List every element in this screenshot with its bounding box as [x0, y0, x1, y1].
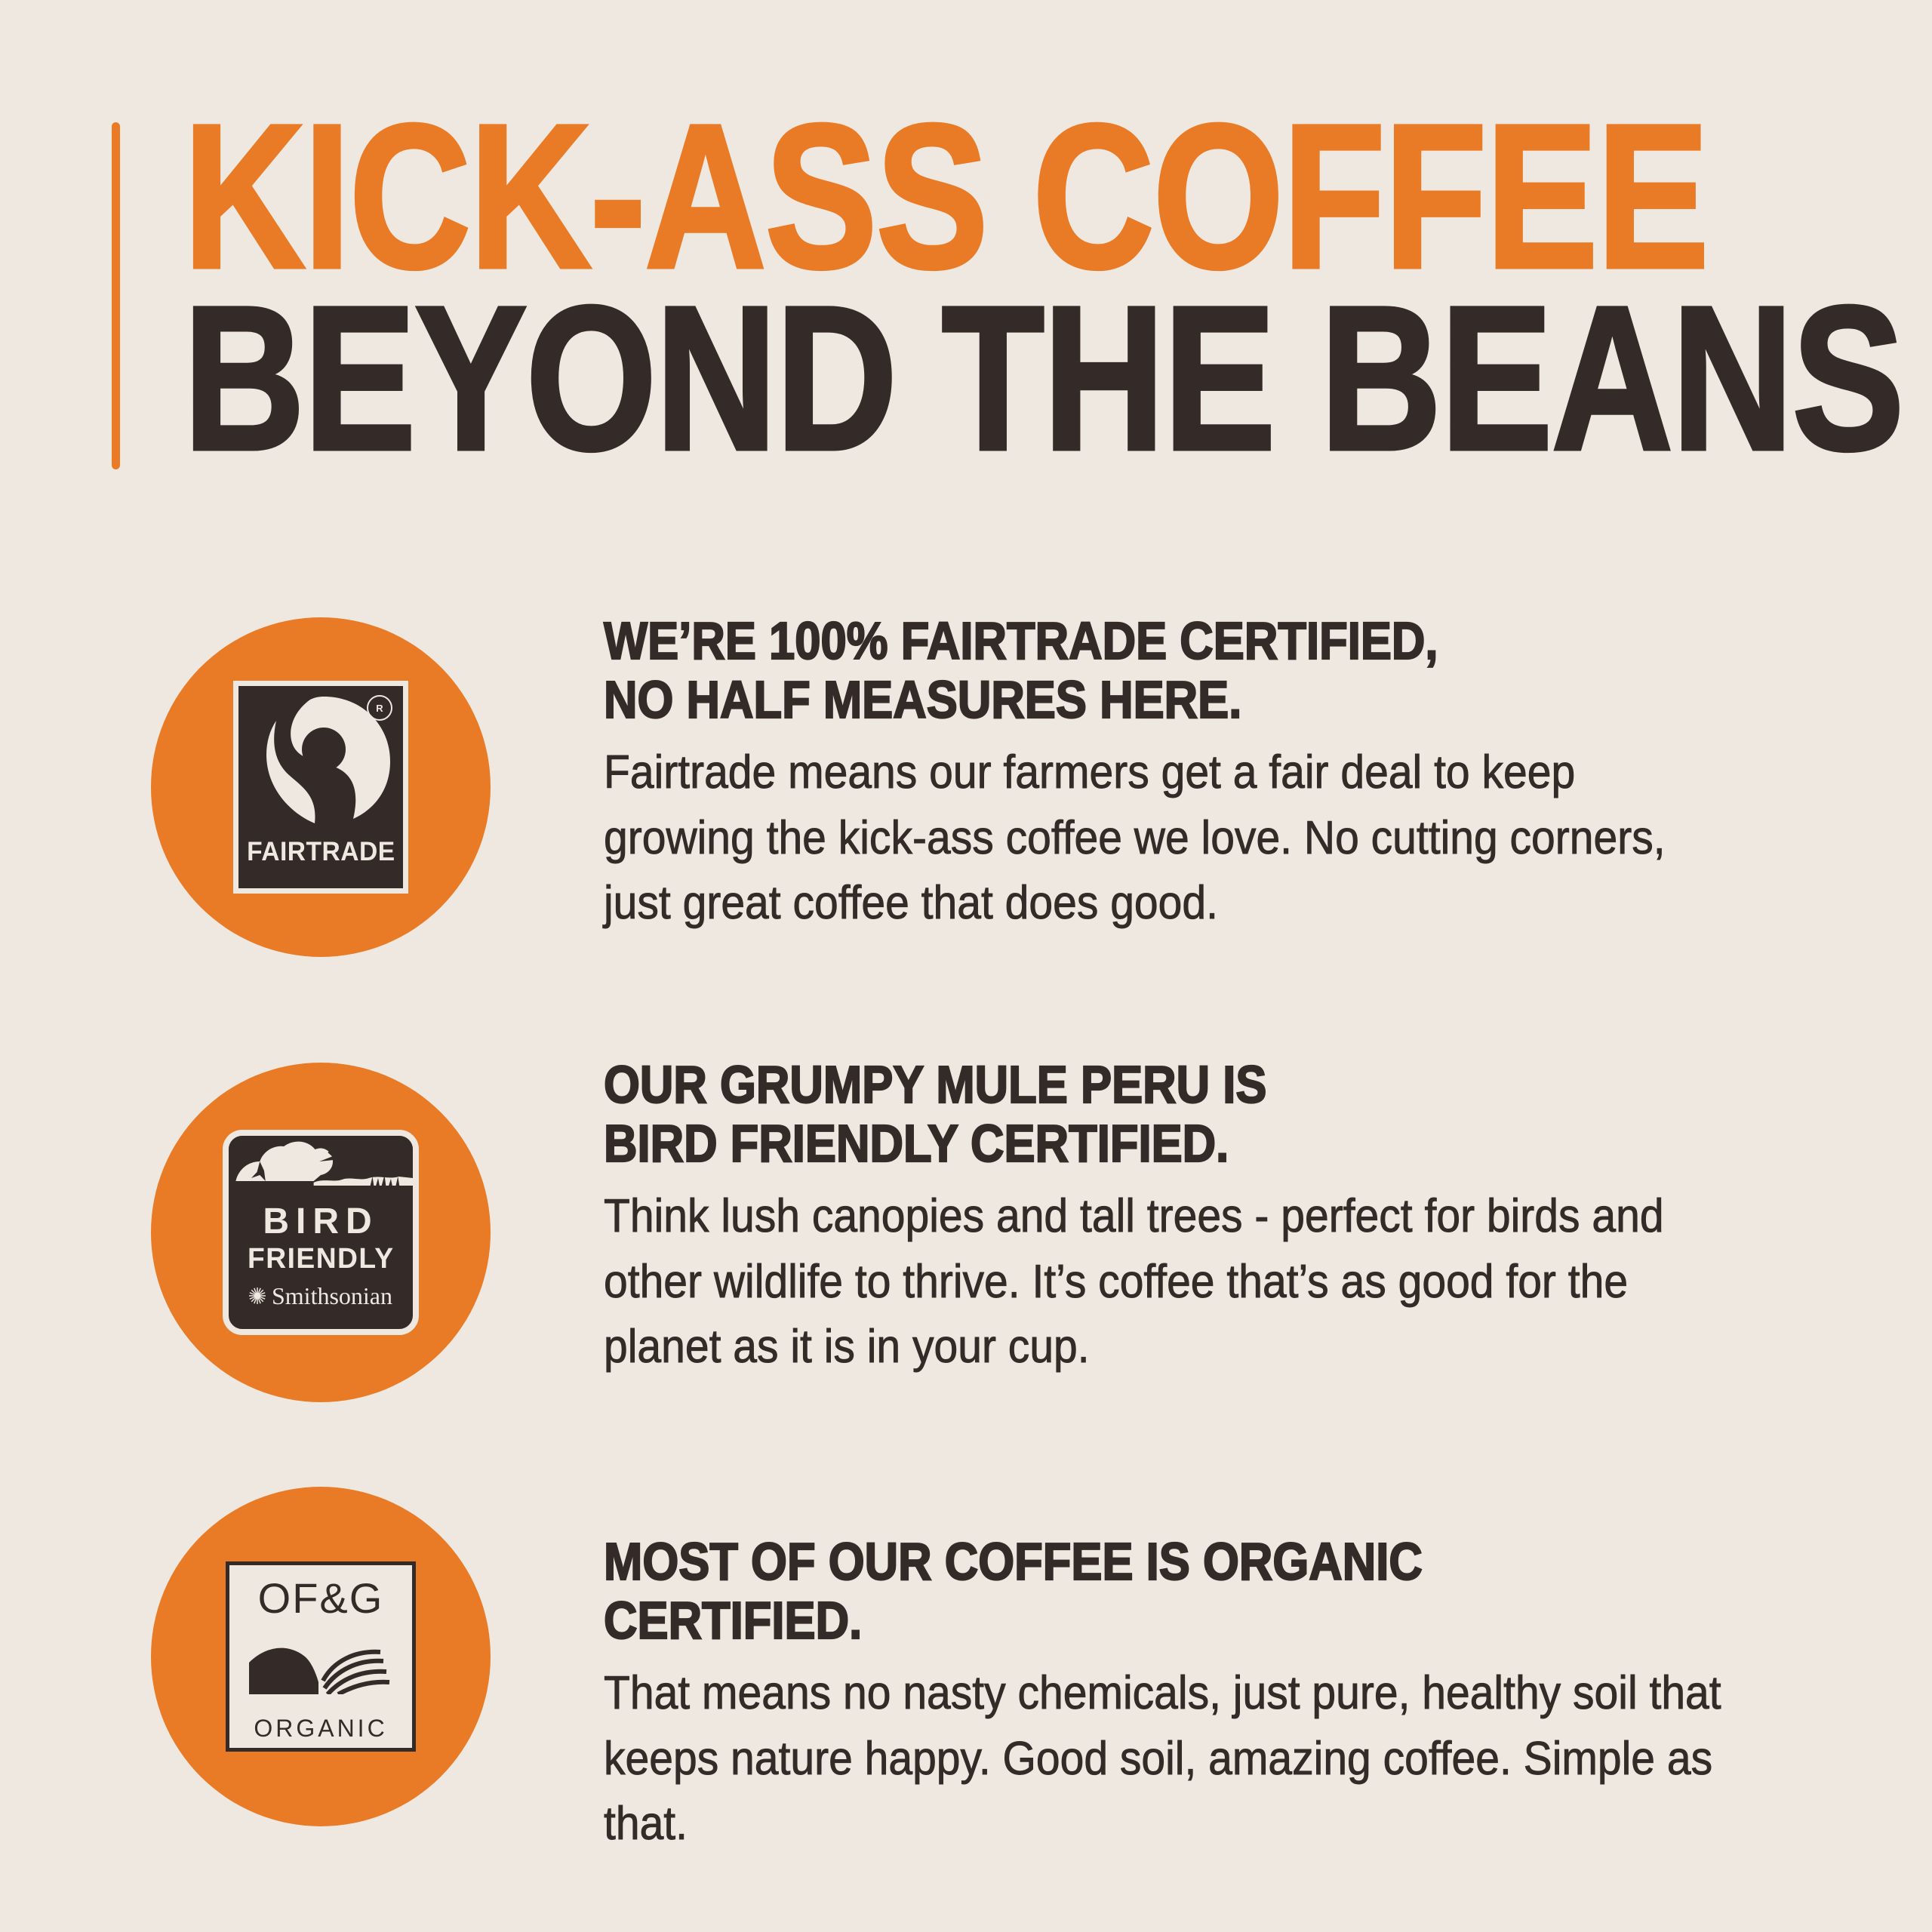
organic-body: That means no nasty chemicals, just pure…	[604, 1661, 1728, 1857]
certification-row-fairtrade: R FAIRTRADE WE’RE 100% FAIRTRADE CERTIFI…	[0, 596, 1932, 1026]
fairtrade-icon: R FAIRTRADE	[233, 681, 408, 894]
bird-friendly-body: Think lush canopies and tall trees - per…	[604, 1184, 1728, 1380]
bird-wordmark: BIRD	[263, 1204, 378, 1240]
tree-and-birds-icon	[229, 1136, 413, 1202]
ofg-organic-icon: OF&G ORGANIC	[226, 1561, 416, 1752]
organic-wordmark: ORGANIC	[254, 1716, 387, 1740]
organic-badge-circle: OF&G ORGANIC	[151, 1487, 491, 1826]
smithsonian-wordmark: Smithsonian	[272, 1284, 392, 1308]
fairtrade-heading: WE’RE 100% FAIRTRADE CERTIFIED, NO HALF …	[604, 611, 1680, 730]
organic-text-block: MOST OF OUR COFFEE IS ORGANIC CERTIFIED.…	[604, 1532, 1932, 1857]
title-line-primary: KICK-ASS COFFEE	[183, 106, 1545, 288]
title-line-secondary: BEYOND THE BEANS	[183, 288, 1545, 469]
page-header: KICK-ASS COFFEE BEYOND THE BEANS	[0, 0, 1932, 528]
certification-row-bird-friendly: BIRD FRIENDLY	[0, 1026, 1932, 1457]
bird-friendly-badge-circle: BIRD FRIENDLY	[151, 1063, 491, 1402]
fairtrade-body: Fairtrade means our farmers get a fair d…	[604, 740, 1728, 937]
bird-friendly-heading: OUR GRUMPY MULE PERU IS BIRD FRIENDLY CE…	[604, 1055, 1680, 1174]
field-furrows-icon	[249, 1641, 392, 1694]
friendly-wordmark: FRIENDLY	[248, 1244, 395, 1273]
certification-list: R FAIRTRADE WE’RE 100% FAIRTRADE CERTIFI…	[0, 596, 1932, 1849]
certification-row-organic: OF&G ORGANIC MOST OF OUR COFFEE IS ORGAN…	[0, 1457, 1932, 1849]
ofg-wordmark: OF&G	[258, 1577, 384, 1620]
registered-trademark-icon: R	[367, 695, 392, 721]
organic-heading: MOST OF OUR COFFEE IS ORGANIC CERTIFIED.	[604, 1532, 1680, 1651]
orange-accent-bar	[112, 122, 120, 469]
fairtrade-wordmark: FAIRTRADE	[247, 837, 395, 867]
bird-friendly-icon: BIRD FRIENDLY	[223, 1130, 419, 1335]
fairtrade-badge-circle: R FAIRTRADE	[151, 617, 491, 957]
page-title: KICK-ASS COFFEE BEYOND THE BEANS	[183, 106, 1844, 469]
smithsonian-sunburst-icon	[249, 1287, 266, 1304]
smithsonian-lockup: Smithsonian	[249, 1284, 392, 1308]
fairtrade-text-block: WE’RE 100% FAIRTRADE CERTIFIED, NO HALF …	[604, 611, 1932, 937]
bird-friendly-text-block: OUR GRUMPY MULE PERU IS BIRD FRIENDLY CE…	[604, 1055, 1932, 1380]
